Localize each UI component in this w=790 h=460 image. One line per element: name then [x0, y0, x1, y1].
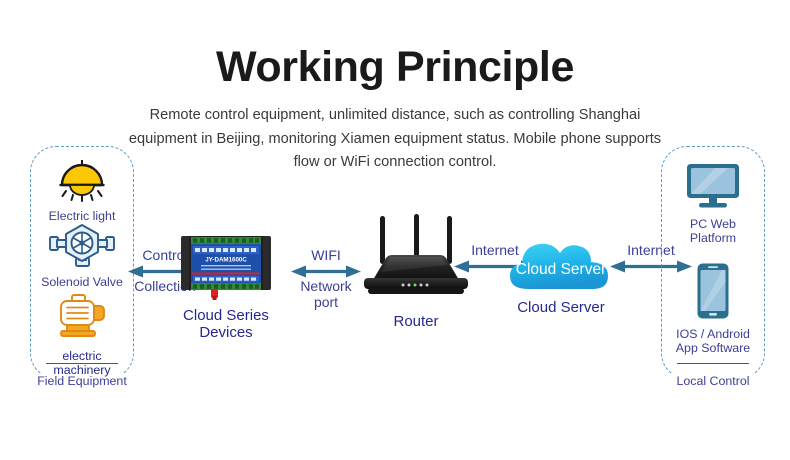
- node-label-cloud-series-device: Cloud Series Devices: [160, 307, 292, 341]
- desktop-monitor-icon: [684, 197, 742, 214]
- pendant-lamp-icon: [54, 189, 110, 206]
- node-pc-web-platform: PC Web Platform: [662, 162, 764, 246]
- node-label-cloud-server: Cloud Server: [498, 299, 624, 316]
- connection-label-wifi: WIFI: [291, 248, 361, 264]
- node-label-electric-machinery: electric machinery: [34, 350, 130, 378]
- double-arrow-icon: [291, 265, 361, 278]
- connection-label-network-port: Network port: [291, 279, 361, 311]
- connection-wifi-network-port: WIFI Network port: [291, 248, 361, 311]
- node-label-pc-web-platform: PC Web Platform: [662, 218, 764, 246]
- svg-text:JY-DAM1600C: JY-DAM1600C: [205, 257, 247, 264]
- wireless-router-icon: [355, 293, 477, 310]
- page-title: Working Principle: [0, 44, 790, 91]
- node-label-solenoid-valve: Solenoid Valve: [34, 276, 130, 290]
- cloud-icon: [498, 279, 624, 296]
- node-label-mobile-app: IOS / Android App Software: [662, 328, 764, 356]
- node-solenoid-valve: Solenoid Valve: [34, 222, 130, 290]
- solenoid-valve-icon: [47, 255, 117, 272]
- io-controller-module-icon: JY-DAM1600C: [179, 287, 273, 304]
- working-principle-diagram: Working Principle Remote control equipme…: [0, 0, 790, 460]
- node-label-router: Router: [352, 313, 480, 330]
- node-electric-machinery: electric machinery: [34, 292, 130, 378]
- local-control-label: Local Control: [671, 374, 754, 388]
- panel-divider-right: [677, 363, 749, 364]
- electric-motor-icon: [52, 329, 112, 346]
- page-subtitle: Remote control equipment, unlimited dist…: [120, 104, 670, 175]
- node-mobile-app: IOS / Android App Software: [662, 262, 764, 356]
- node-electric-light: Electric light: [34, 160, 130, 224]
- node-cloud-series-device: JY-DAM1600C Cloud Series D: [160, 232, 292, 341]
- smartphone-icon: [696, 307, 730, 324]
